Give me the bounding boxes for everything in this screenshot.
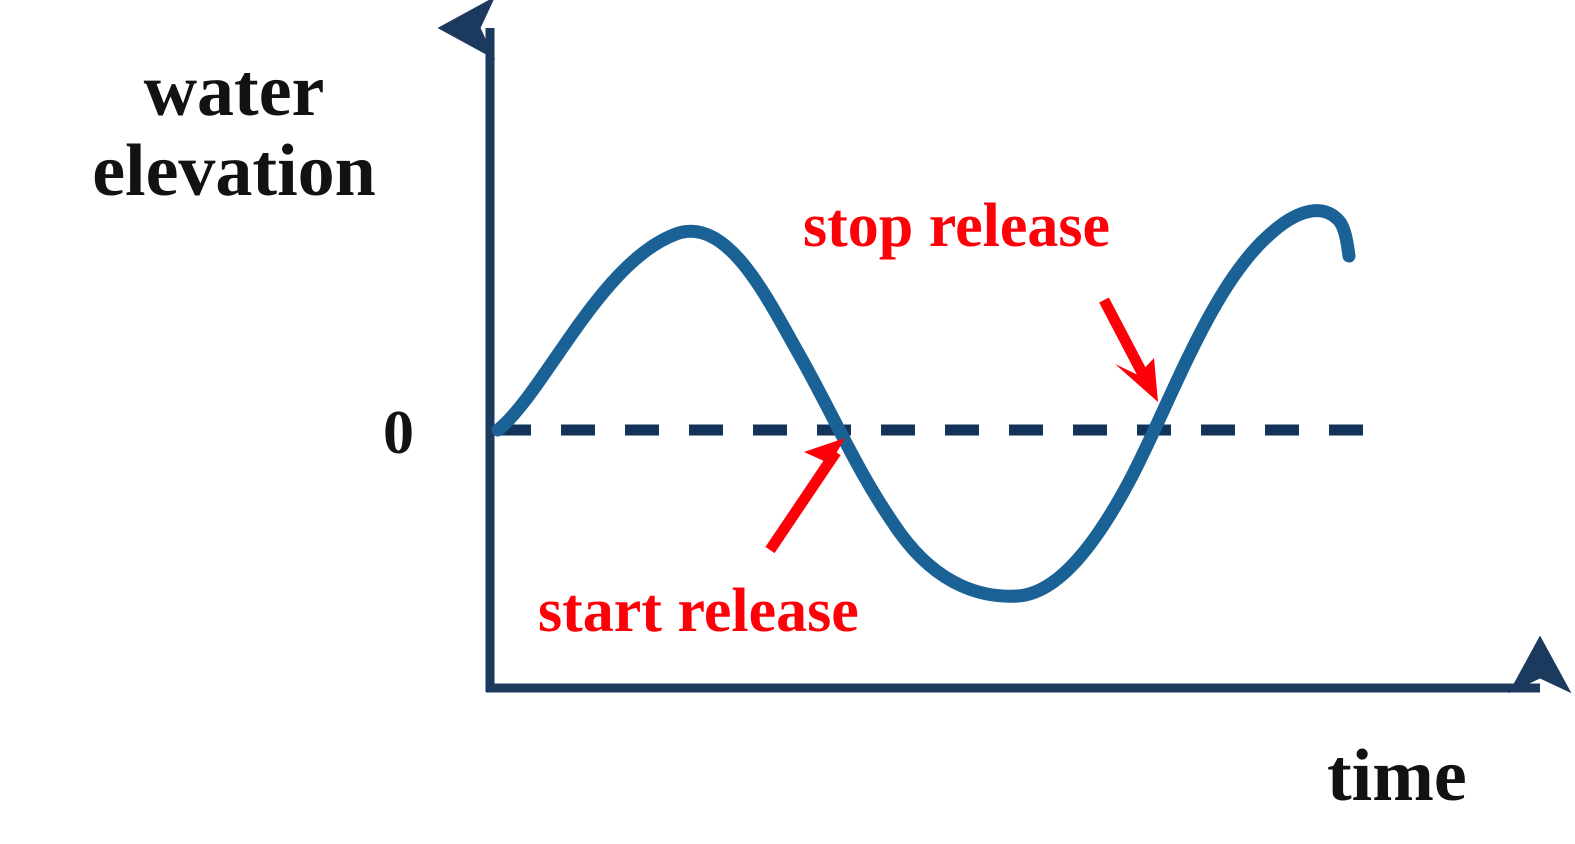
stop-release-label: stop release	[803, 193, 1110, 260]
water-elevation-time-figure: water elevation 0 time stop release star…	[0, 0, 1575, 844]
y-axis-label-line-2: elevation	[8, 132, 460, 212]
water-elevation-curve	[498, 211, 1349, 597]
y-axis-label-line-1: water	[8, 52, 460, 132]
stop-release-arrow-icon	[1104, 300, 1158, 402]
y-axis-label: water elevation	[8, 52, 460, 212]
x-axis-label: time	[1327, 737, 1467, 817]
start-release-label: start release	[538, 578, 859, 645]
zero-tick-label: 0	[383, 400, 414, 467]
start-release-arrow-icon	[770, 438, 845, 550]
